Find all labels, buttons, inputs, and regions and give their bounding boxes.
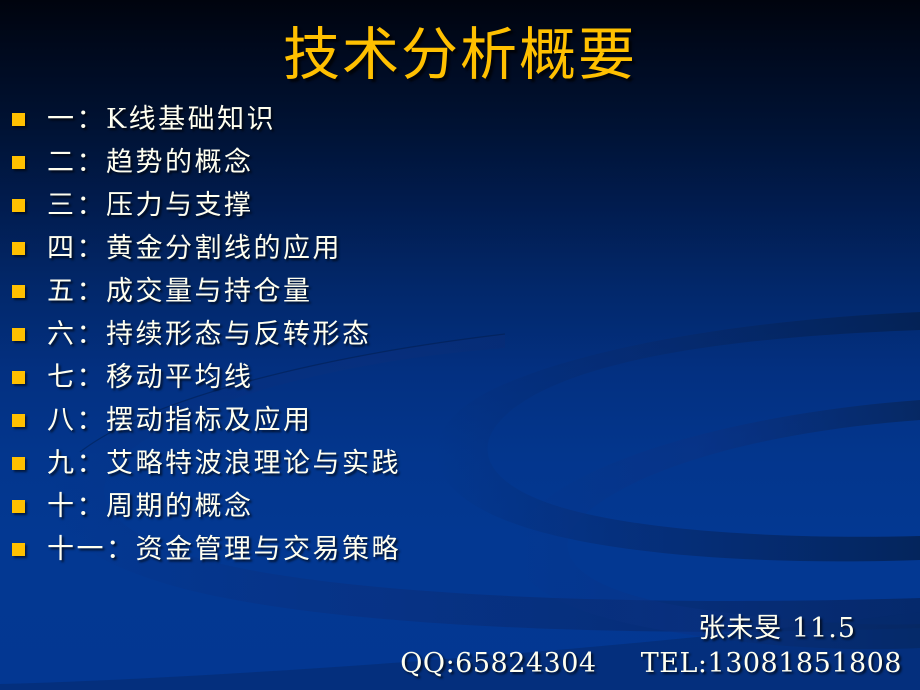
list-item[interactable]: 五：成交量与持仓量 (12, 270, 902, 313)
author-and-date: 张未旻 11.5 (400, 612, 902, 646)
list-item-label: 一：K线基础知识 (47, 104, 276, 136)
list-item-label: 四：黄金分割线的应用 (47, 233, 342, 265)
telephone-number: TEL:13081851808 (641, 648, 902, 679)
list-item-label: 五：成交量与持仓量 (47, 276, 313, 308)
list-item-label: 六：持续形态与反转形态 (47, 319, 372, 351)
list-item[interactable]: 八：摆动指标及应用 (12, 399, 902, 442)
square-bullet-icon (12, 457, 25, 470)
square-bullet-icon (12, 156, 25, 169)
list-item[interactable]: 九：艾略特波浪理论与实践 (12, 442, 902, 485)
list-item-label: 三：压力与支撑 (47, 190, 254, 222)
list-item-label: 二：趋势的概念 (47, 147, 254, 179)
list-item[interactable]: 三：压力与支撑 (12, 184, 902, 227)
presentation-slide: 技术分析概要 一：K线基础知识 二：趋势的概念 三：压力与支撑 四：黄金分割线的… (0, 0, 920, 690)
list-item-label: 十一：资金管理与交易策略 (47, 534, 401, 566)
list-item[interactable]: 四：黄金分割线的应用 (12, 227, 902, 270)
square-bullet-icon (12, 371, 25, 384)
list-item[interactable]: 二：趋势的概念 (12, 141, 902, 184)
square-bullet-icon (12, 500, 25, 513)
square-bullet-icon (12, 285, 25, 298)
contact-info: QQ:65824304 TEL:13081851808 (400, 646, 902, 682)
square-bullet-icon (12, 414, 25, 427)
list-item-label: 九：艾略特波浪理论与实践 (47, 448, 401, 480)
list-item[interactable]: 十：周期的概念 (12, 485, 902, 528)
square-bullet-icon (12, 328, 25, 341)
page-title: 技术分析概要 (0, 22, 920, 88)
square-bullet-icon (12, 543, 25, 556)
square-bullet-icon (12, 113, 25, 126)
list-item[interactable]: 十一：资金管理与交易策略 (12, 528, 902, 571)
slide-footer: 张未旻 11.5 QQ:65824304 TEL:13081851808 (400, 612, 902, 682)
list-item[interactable]: 一：K线基础知识 (12, 98, 902, 141)
list-item-label: 十：周期的概念 (47, 491, 254, 523)
list-item-label: 七：移动平均线 (47, 362, 254, 394)
list-item[interactable]: 六：持续形态与反转形态 (12, 313, 902, 356)
qq-number: QQ:65824304 (400, 648, 596, 679)
list-item-label: 八：摆动指标及应用 (47, 405, 313, 437)
square-bullet-icon (12, 242, 25, 255)
list-item[interactable]: 七：移动平均线 (12, 356, 902, 399)
square-bullet-icon (12, 199, 25, 212)
outline-list: 一：K线基础知识 二：趋势的概念 三：压力与支撑 四：黄金分割线的应用 五：成交… (12, 98, 902, 571)
